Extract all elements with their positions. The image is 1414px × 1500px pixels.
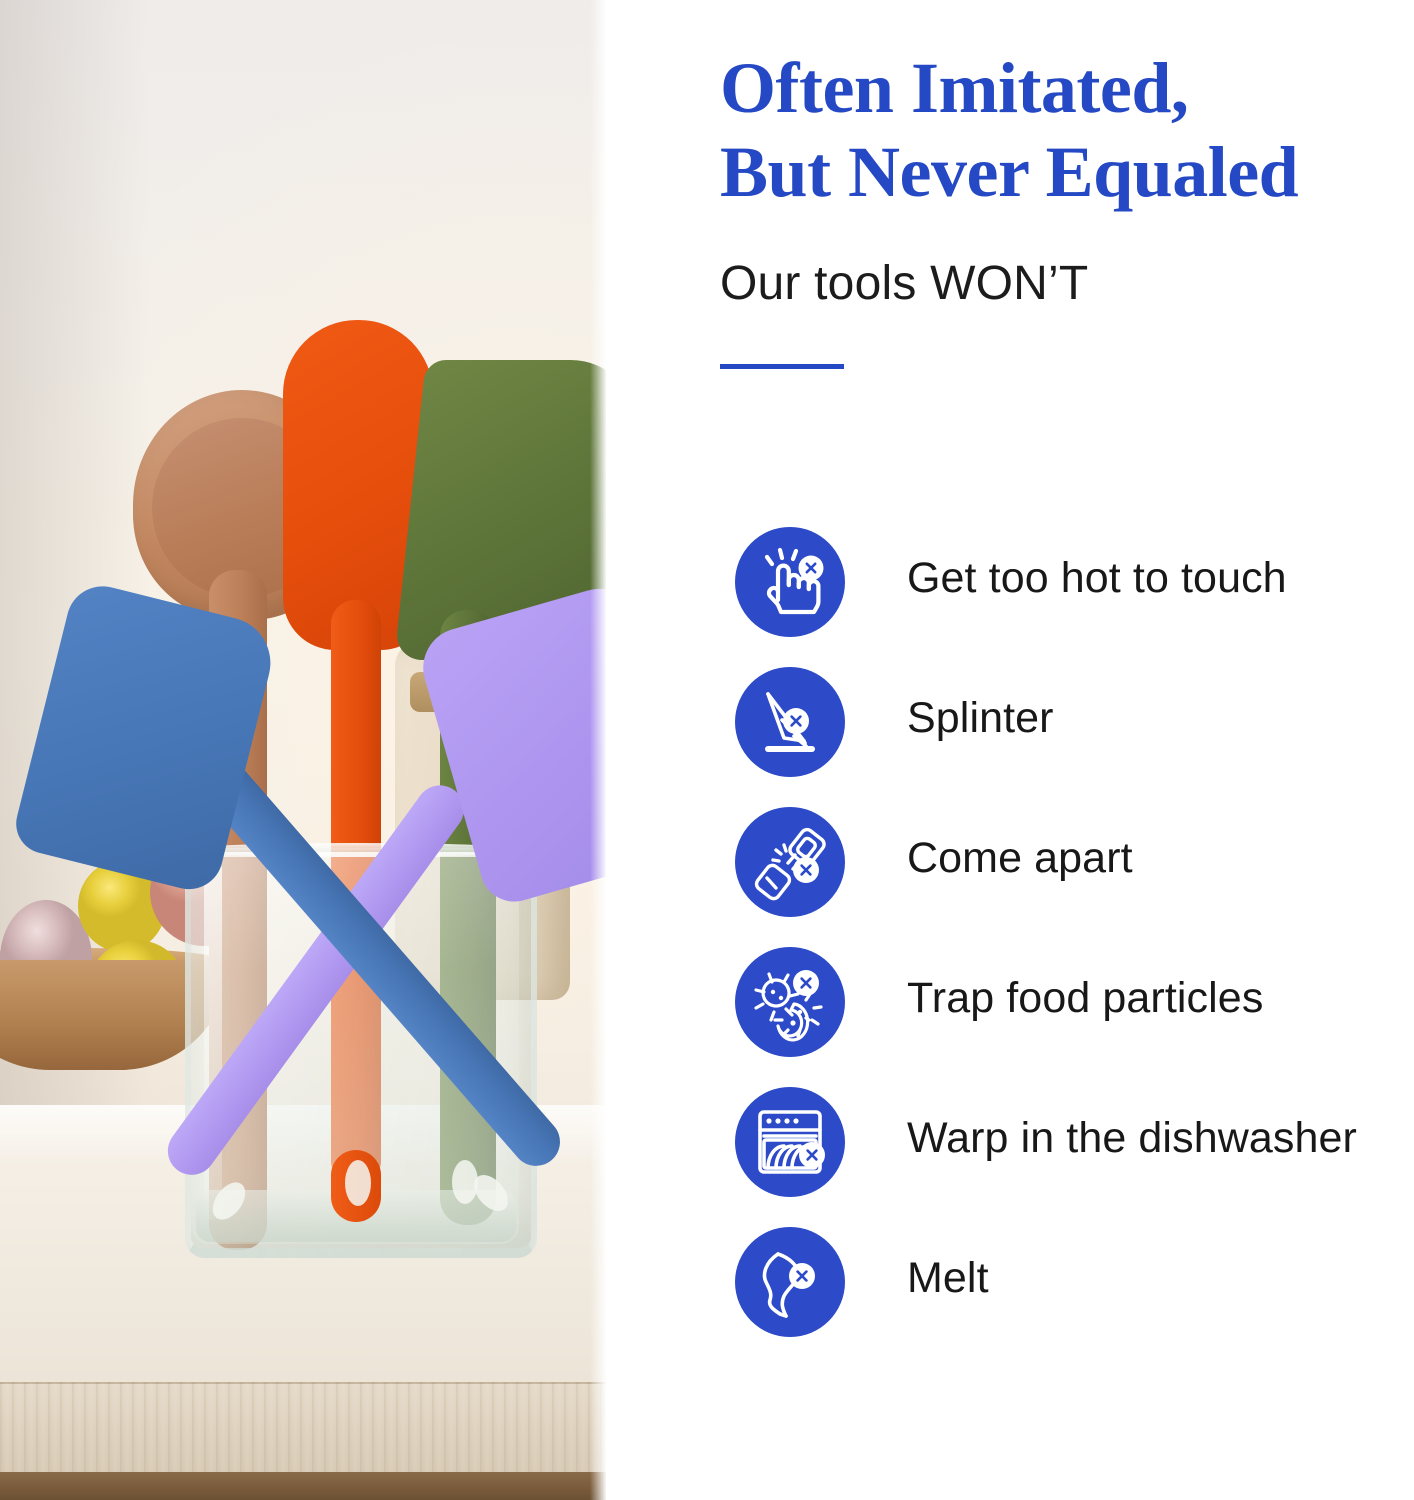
list-item-label: Melt xyxy=(907,1252,989,1304)
list-item: Warp in the dishwasher xyxy=(606,1072,1414,1212)
list-item-label: Splinter xyxy=(907,692,1054,744)
hot-touch-icon xyxy=(735,527,845,637)
feature-list: Get too hot to touch xyxy=(606,512,1414,1352)
product-feature-graphic: Often Imitated, But Never Equaled Our to… xyxy=(0,0,1414,1500)
page-title: Often Imitated, But Never Equaled xyxy=(720,46,1414,214)
come-apart-icon xyxy=(735,807,845,917)
germs-icon xyxy=(735,947,845,1057)
list-item: Melt xyxy=(606,1212,1414,1352)
list-item: Trap food particles xyxy=(606,932,1414,1072)
info-panel: Often Imitated, But Never Equaled Our to… xyxy=(606,0,1414,1500)
divider-rule xyxy=(720,364,844,369)
list-item-label: Come apart xyxy=(907,832,1133,884)
photo-edge-fade xyxy=(590,0,606,1500)
melt-icon xyxy=(735,1227,845,1337)
list-item: Get too hot to touch xyxy=(606,512,1414,652)
list-item: Splinter xyxy=(606,652,1414,792)
list-item-label: Get too hot to touch xyxy=(907,552,1287,604)
list-item-label: Trap food particles xyxy=(907,972,1263,1024)
headline-line-1: Often Imitated, xyxy=(720,46,1414,130)
list-item-label: Warp in the dishwasher xyxy=(907,1112,1357,1164)
dishwasher-icon xyxy=(735,1087,845,1197)
headline-line-2: But Never Equaled xyxy=(720,130,1414,214)
floor-strip xyxy=(0,1472,606,1500)
product-photo xyxy=(0,0,606,1500)
list-item: Come apart xyxy=(606,792,1414,932)
splinter-icon xyxy=(735,667,845,777)
subheading: Our tools WON’T xyxy=(720,255,1088,313)
orange-spoon-hole xyxy=(345,1160,371,1206)
